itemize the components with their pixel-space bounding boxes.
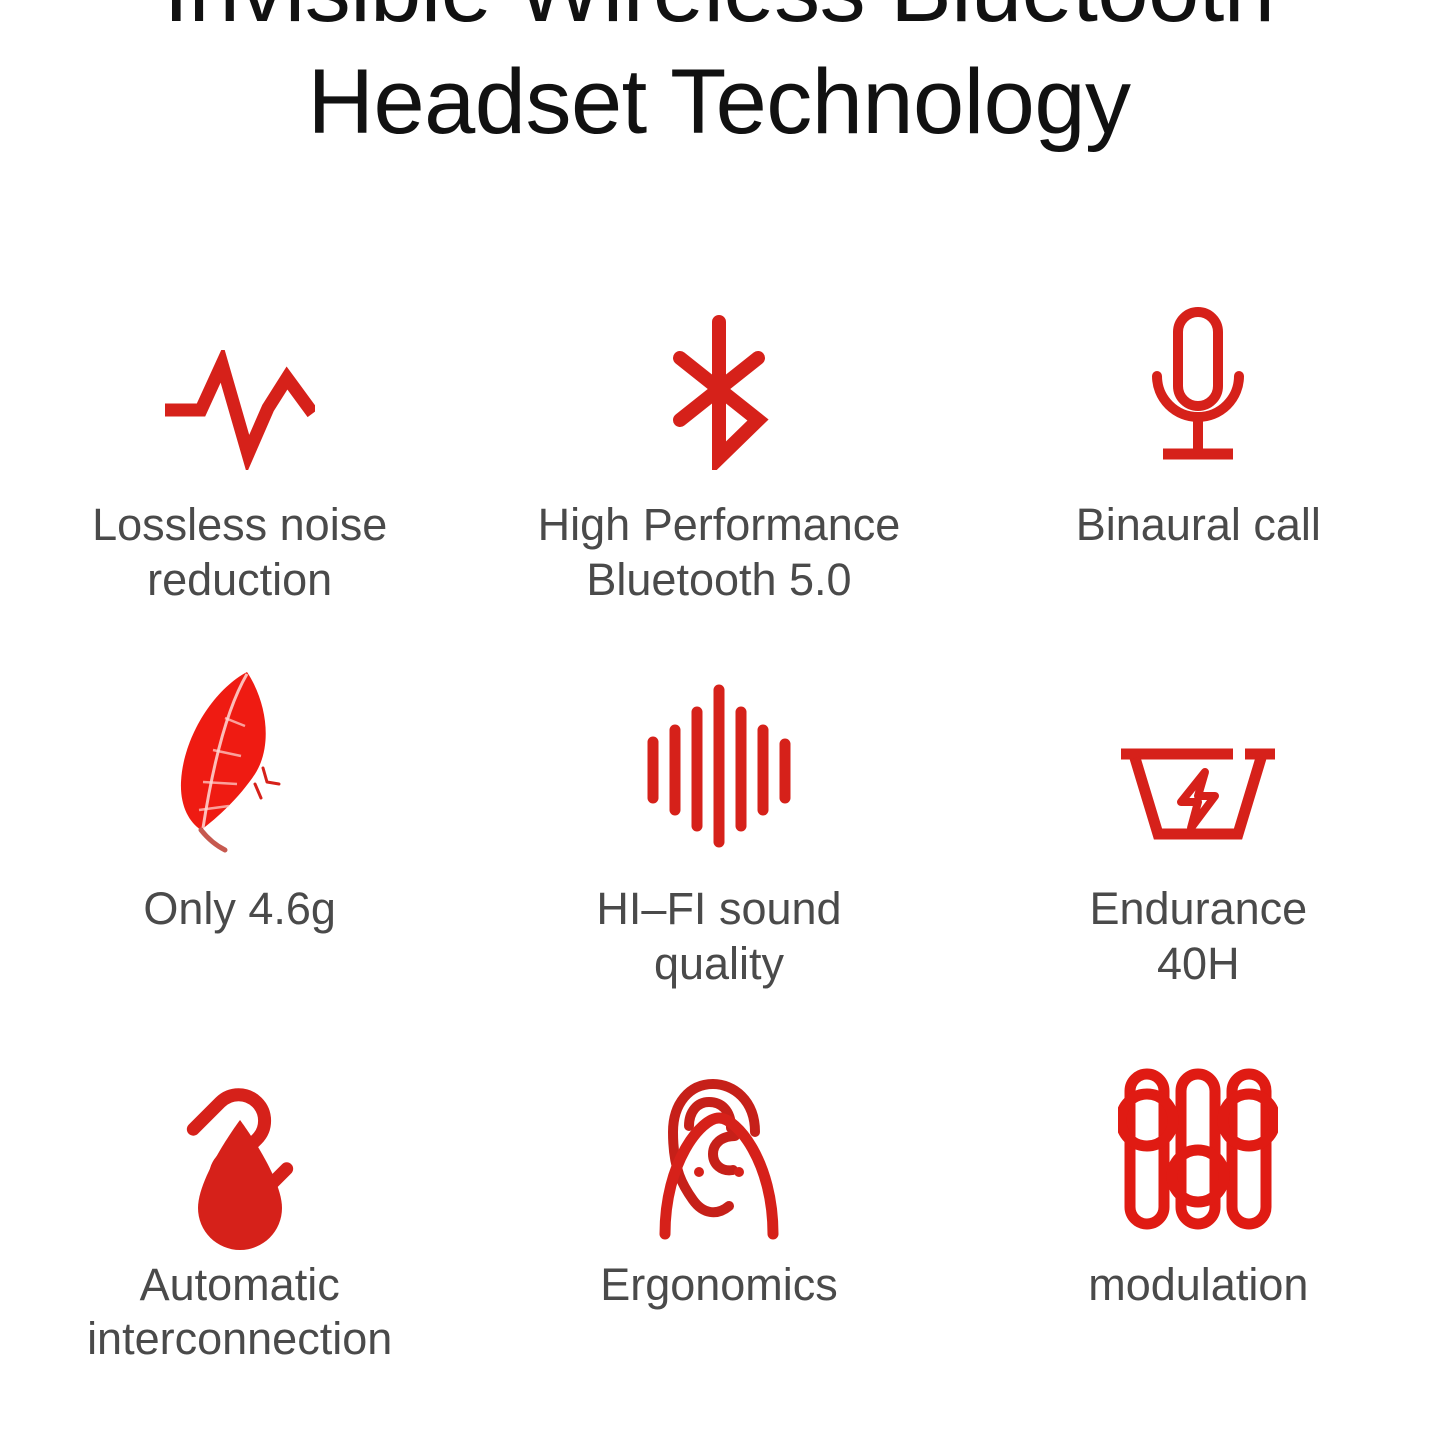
feature-item-partial-dome <box>479 1110 958 1310</box>
battery-charging-icon <box>1113 734 1283 854</box>
feature-item-weight: Only 4.6g <box>0 654 479 992</box>
bluetooth-icon <box>654 310 784 470</box>
icon-container <box>1113 654 1283 854</box>
feature-item-binaural-call: Binaural call <box>959 300 1438 608</box>
feature-row: Lossless noise reduction High Performanc… <box>0 300 1438 608</box>
feature-item-bluetooth: High Performance Bluetooth 5.0 <box>479 300 958 608</box>
feature-label: Binaural call <box>1076 498 1321 553</box>
feature-item-partial-water-drop <box>0 1110 479 1310</box>
page-title: Invisible Wireless Bluetooth Headset Tec… <box>0 0 1438 158</box>
icon-container <box>1133 300 1263 470</box>
feature-item-lossless-noise-reduction: Lossless noise reduction <box>0 300 479 608</box>
microphone-icon <box>1133 304 1263 470</box>
sound-bars-icon <box>639 674 799 854</box>
dome-arch-icon <box>649 1110 789 1270</box>
feature-label: HI–FI sound quality <box>596 882 841 992</box>
feature-label: Lossless noise reduction <box>92 498 387 608</box>
feature-item-hifi-sound: HI–FI sound quality <box>479 654 958 992</box>
feature-label: Endurance 40H <box>1089 882 1307 992</box>
feature-row: Only 4.6g <box>0 654 1438 992</box>
icon-container <box>639 654 799 854</box>
feather-icon <box>155 664 325 854</box>
feature-row-partial <box>0 1110 1438 1310</box>
icon-container <box>165 300 315 470</box>
waveform-pulse-icon <box>165 350 315 470</box>
feature-item-endurance: Endurance 40H <box>959 654 1438 992</box>
feature-label: Only 4.6g <box>143 882 336 937</box>
icon-container <box>180 1110 300 1310</box>
feature-label: High Performance Bluetooth 5.0 <box>538 498 901 608</box>
water-drop-icon <box>180 1110 300 1270</box>
icon-container <box>654 300 784 470</box>
icon-container <box>155 654 325 854</box>
icon-container <box>649 1110 789 1310</box>
infographic-page: Invisible Wireless Bluetooth Headset Tec… <box>0 0 1438 1438</box>
